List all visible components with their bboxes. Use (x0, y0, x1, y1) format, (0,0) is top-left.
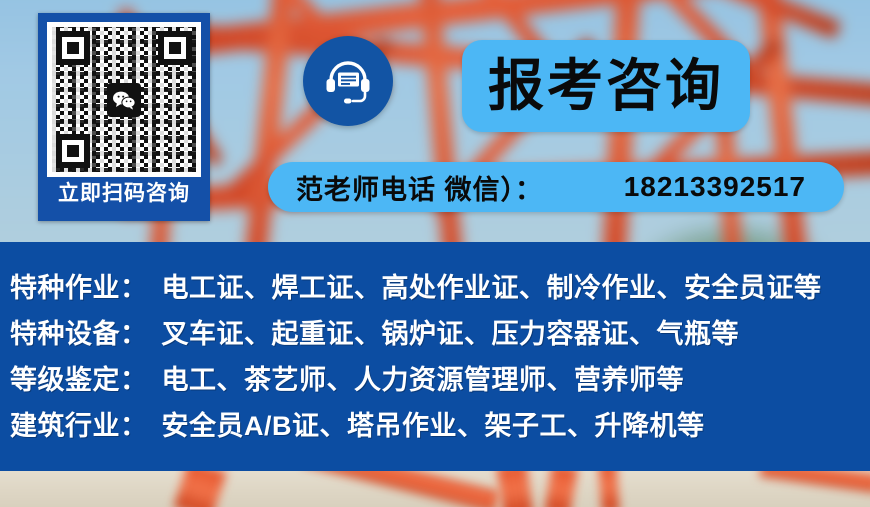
certificate-row: 建筑行业： 安全员A/B证、塔吊作业、架子工、升降机等 (10, 404, 870, 450)
certificate-items: 电工证、焊工证、高处作业证、制冷作业、安全员证等 (162, 266, 822, 305)
certificate-category: 特种设备： (10, 312, 148, 351)
certificate-items: 安全员A/B证、塔吊作业、架子工、升降机等 (162, 404, 705, 443)
qr-finder-top-left (56, 31, 90, 65)
headset-support-icon[interactable] (303, 36, 393, 126)
qr-caption: 立即扫码咨询 (41, 174, 207, 214)
qr-code-card[interactable]: 立即扫码咨询 (38, 13, 210, 221)
consultation-title-pill[interactable]: 报考咨询 (462, 40, 750, 132)
certificate-row: 等级鉴定： 电工、茶艺师、人力资源管理师、营养师等 (10, 358, 870, 404)
certificate-category: 建筑行业： (10, 404, 148, 443)
contact-label: 范老师电话 微信）： (296, 168, 543, 207)
contact-phone-number[interactable]: 18213392517 (624, 171, 816, 203)
qr-finder-bottom-left (56, 134, 90, 168)
crane-beam (598, 471, 620, 507)
qr-matrix (52, 27, 196, 172)
certificate-list-panel: 特种作业： 电工证、焊工证、高处作业证、制冷作业、安全员证等 特种设备： 叉车证… (0, 242, 870, 471)
wechat-icon (107, 83, 141, 117)
certificate-row: 特种设备： 叉车证、起重证、锅炉证、压力容器证、气瓶等 (10, 312, 870, 358)
crane-beam (496, 471, 533, 507)
certificate-row: 特种作业： 电工证、焊工证、高处作业证、制冷作业、安全员证等 (10, 266, 870, 312)
contact-phone-pill[interactable]: 范老师电话 微信）： 18213392517 (268, 162, 844, 212)
qr-finder-top-right (158, 31, 192, 65)
certificate-category: 特种作业： (10, 266, 148, 305)
background-photo-bottom (0, 471, 870, 507)
certificate-category: 等级鉴定： (10, 358, 148, 397)
certificate-items: 电工、茶艺师、人力资源管理师、营养师等 (162, 358, 685, 397)
consultation-title-text: 报考咨询 (488, 58, 724, 114)
certificate-items: 叉车证、起重证、锅炉证、压力容器证、气瓶等 (162, 312, 740, 351)
promo-banner: 立即扫码咨询 报考咨询 范老师电话 微信）： 18213392517 特种作业：… (0, 0, 870, 507)
qr-code-image[interactable] (47, 22, 201, 177)
